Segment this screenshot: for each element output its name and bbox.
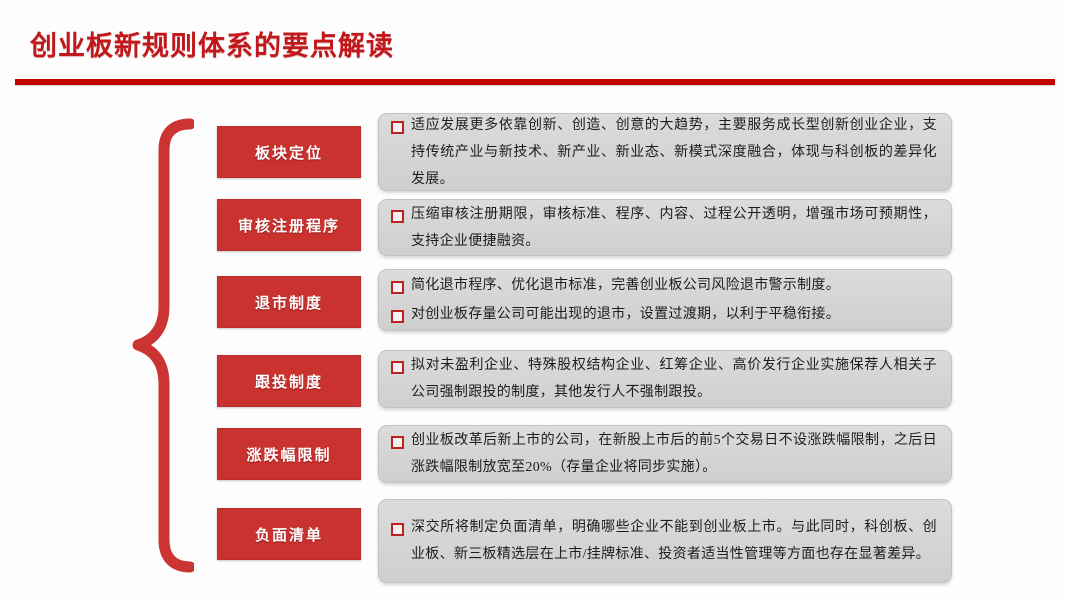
category-label-text: 板块定位 [255, 142, 323, 163]
bullet-line: 简化退市程序、优化退市标准，完善创业板公司风险退市警示制度。 [391, 272, 937, 299]
category-label-text: 退市制度 [255, 292, 323, 313]
bullet-text: 适应发展更多依靠创新、创造、创意的大趋势，主要服务成长型创新创业企业，支持传统产… [411, 112, 937, 193]
category-label-box[interactable]: 涨跌幅限制 [217, 428, 361, 480]
title-underline-rule [15, 79, 1055, 85]
detail-content-box: 深交所将制定负面清单，明确哪些企业不能到创业板上市。与此同时，科创板、创业板、新… [378, 499, 952, 583]
bullet-line: 深交所将制定负面清单，明确哪些企业不能到创业板上市。与此同时，科创板、创业板、新… [391, 514, 937, 568]
square-bullet-icon [391, 121, 404, 134]
bullet-text: 压缩审核注册期限，审核标准、程序、内容、过程公开透明，增强市场可预期性，支持企业… [411, 201, 937, 255]
bullet-text: 深交所将制定负面清单，明确哪些企业不能到创业板上市。与此同时，科创板、创业板、新… [411, 514, 937, 568]
bullet-text: 拟对未盈利企业、特殊股权结构企业、红筹企业、高价发行企业实施保荐人相关子公司强制… [411, 352, 937, 406]
detail-content-box: 拟对未盈利企业、特殊股权结构企业、红筹企业、高价发行企业实施保荐人相关子公司强制… [378, 350, 952, 408]
detail-content-box: 简化退市程序、优化退市标准，完善创业板公司风险退市警示制度。对创业板存量公司可能… [378, 269, 952, 331]
square-bullet-icon [391, 361, 404, 374]
category-label-text: 审核注册程序 [238, 215, 340, 236]
bullet-line: 对创业板存量公司可能出现的退市，设置过渡期，以利于平稳衔接。 [391, 301, 937, 328]
square-bullet-icon [391, 436, 404, 449]
bullet-text: 对创业板存量公司可能出现的退市，设置过渡期，以利于平稳衔接。 [411, 301, 937, 328]
category-label-box[interactable]: 负面清单 [217, 508, 361, 560]
category-label-text: 负面清单 [255, 524, 323, 545]
detail-content-box: 创业板改革后新上市的公司，在新股上市后的前5个交易日不设涨跌幅限制，之后日涨跌幅… [378, 425, 952, 483]
page-title: 创业板新规则体系的要点解读 [30, 24, 394, 63]
detail-content-box: 适应发展更多依靠创新、创造、创意的大趋势，主要服务成长型创新创业企业，支持传统产… [378, 113, 952, 191]
square-bullet-icon [391, 210, 404, 223]
curly-brace-icon [112, 118, 194, 573]
detail-content-box: 压缩审核注册期限，审核标准、程序、内容、过程公开透明，增强市场可预期性，支持企业… [378, 199, 952, 256]
bullet-line: 创业板改革后新上市的公司，在新股上市后的前5个交易日不设涨跌幅限制，之后日涨跌幅… [391, 427, 937, 481]
category-label-box[interactable]: 退市制度 [217, 276, 361, 328]
category-label-box[interactable]: 审核注册程序 [217, 199, 361, 251]
bullet-text: 创业板改革后新上市的公司，在新股上市后的前5个交易日不设涨跌幅限制，之后日涨跌幅… [411, 427, 937, 481]
square-bullet-icon [391, 310, 404, 323]
category-label-box[interactable]: 跟投制度 [217, 355, 361, 407]
bullet-line: 压缩审核注册期限，审核标准、程序、内容、过程公开透明，增强市场可预期性，支持企业… [391, 201, 937, 255]
bullet-line: 拟对未盈利企业、特殊股权结构企业、红筹企业、高价发行企业实施保荐人相关子公司强制… [391, 352, 937, 406]
square-bullet-icon [391, 523, 404, 536]
bullet-line: 适应发展更多依靠创新、创造、创意的大趋势，主要服务成长型创新创业企业，支持传统产… [391, 112, 937, 193]
category-label-text: 涨跌幅限制 [246, 444, 331, 465]
category-label-text: 跟投制度 [255, 371, 323, 392]
square-bullet-icon [391, 281, 404, 294]
bullet-text: 简化退市程序、优化退市标准，完善创业板公司风险退市警示制度。 [411, 272, 937, 299]
slide-canvas: 创业板新规则体系的要点解读 板块定位适应发展更多依靠创新、创造、创意的大趋势，主… [0, 0, 1066, 600]
category-label-box[interactable]: 板块定位 [217, 126, 361, 178]
